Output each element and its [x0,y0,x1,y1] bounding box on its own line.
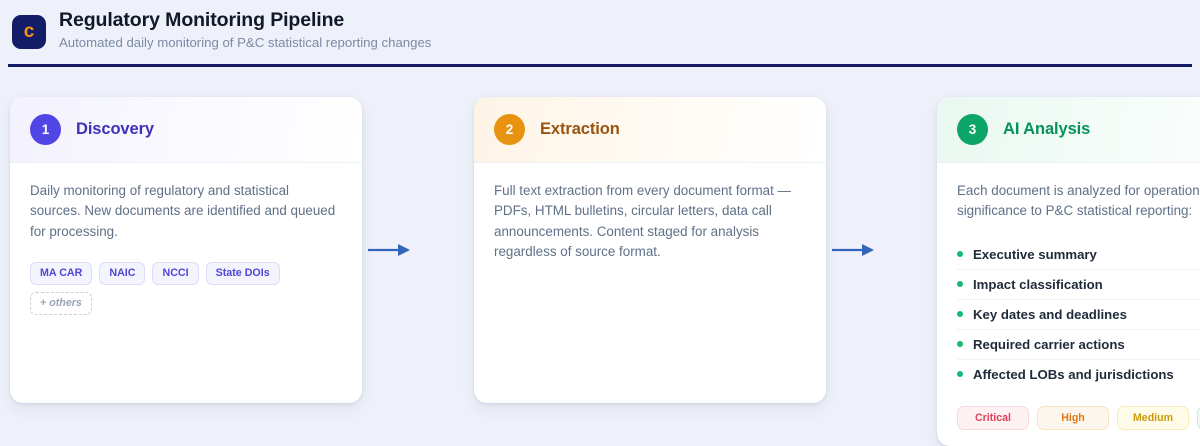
bullet-dot-icon [957,371,963,377]
pipeline-steps: 1 Discovery Daily monitoring of regulato… [0,97,1200,446]
step-card-header: 1 Discovery [10,97,362,163]
list-item-label: Key dates and deadlines [973,307,1127,322]
step-card-body: Each document is analyzed for operationa… [937,163,1200,446]
step-description: Daily monitoring of regulatory and stati… [30,181,342,242]
step-card-header: 3 AI Analysis [937,97,1200,163]
step-title: Extraction [540,120,620,139]
header-divider [8,64,1192,67]
app-logo-badge: c [12,15,46,49]
list-item: Required carrier actions [957,330,1200,360]
step-description: Full text extraction from every document… [494,181,806,263]
step-card-discovery[interactable]: 1 Discovery Daily monitoring of regulato… [10,97,362,403]
bullet-dot-icon [957,311,963,317]
source-tag[interactable]: State DOIs [206,262,280,285]
step-card-body: Full text extraction from every document… [474,163,826,403]
analysis-output-list: Executive summary Impact classification … [957,240,1200,389]
step-number-badge: 1 [30,114,61,145]
app-header: c Regulatory Monitoring Pipeline Automat… [0,0,1200,52]
list-item-label: Impact classification [973,277,1103,292]
list-item: Executive summary [957,240,1200,270]
bullet-dot-icon [957,251,963,257]
step-title: Discovery [76,120,154,139]
step-card-body: Daily monitoring of regulatory and stati… [10,163,362,403]
source-tag-list: MA CAR NAIC NCCI State DOIs + others [30,262,342,314]
arrow-right-icon [826,97,882,403]
step-number-badge: 3 [957,114,988,145]
list-item: Affected LOBs and jurisdictions [957,360,1200,389]
source-tag[interactable]: NCCI [152,262,198,285]
list-item-label: Required carrier actions [973,337,1125,352]
source-tag-others[interactable]: + others [30,292,92,315]
list-item: Key dates and deadlines [957,300,1200,330]
list-item-label: Affected LOBs and jurisdictions [973,367,1174,382]
page-subtitle: Automated daily monitoring of P&C statis… [59,33,431,53]
step-description: Each document is analyzed for operationa… [957,181,1200,222]
page-title: Regulatory Monitoring Pipeline [59,9,431,31]
list-item: Impact classification [957,270,1200,300]
step-title: AI Analysis [1003,120,1090,139]
bullet-dot-icon [957,281,963,287]
pipeline-page: c Regulatory Monitoring Pipeline Automat… [0,0,1200,427]
source-tag[interactable]: MA CAR [30,262,92,285]
bullet-dot-icon [957,341,963,347]
step-card-header: 2 Extraction [474,97,826,163]
header-text-block: Regulatory Monitoring Pipeline Automated… [59,9,431,53]
step-number-badge: 2 [494,114,525,145]
list-item-label: Executive summary [973,247,1097,262]
step-card-ai-analysis[interactable]: 3 AI Analysis Each document is analyzed … [937,97,1200,446]
arrow-right-icon [362,97,418,403]
source-tag[interactable]: NAIC [99,262,145,285]
step-card-extraction[interactable]: 2 Extraction Full text extraction from e… [474,97,826,403]
